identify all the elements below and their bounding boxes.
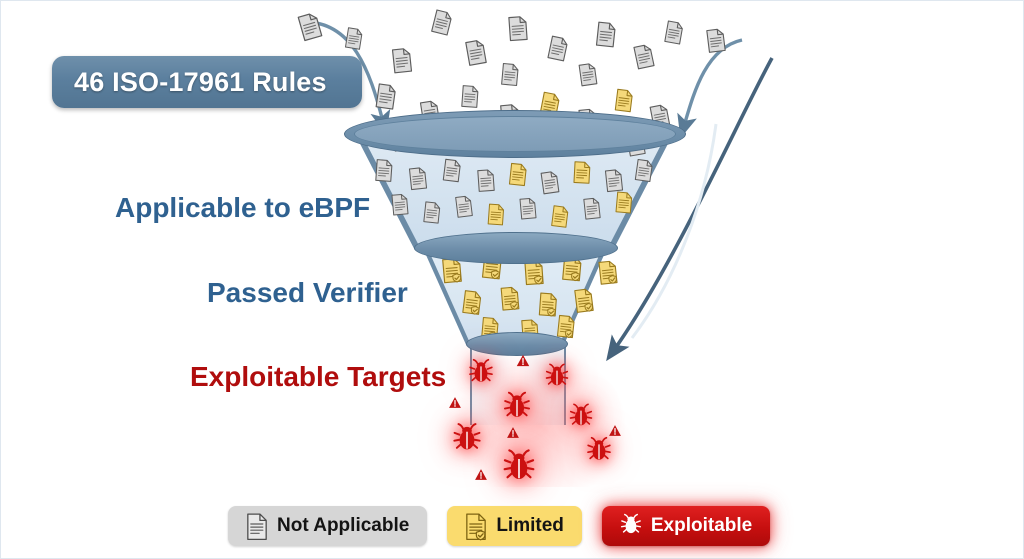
document-shield-icon xyxy=(465,513,487,539)
document-icon xyxy=(500,63,520,87)
document-icon xyxy=(550,205,570,228)
document-icon xyxy=(578,62,599,87)
legend-item-label: Limited xyxy=(496,515,564,537)
document-icon xyxy=(460,85,480,109)
legend-item-label: Exploitable xyxy=(651,515,752,537)
bug-icon xyxy=(545,363,570,388)
document-icon xyxy=(546,35,570,62)
warning-triangle-icon xyxy=(474,468,487,480)
document-icon xyxy=(422,201,441,224)
document-icon xyxy=(374,159,394,183)
legend-item-label: Not Applicable xyxy=(277,515,409,537)
warning-triangle-icon xyxy=(506,426,519,438)
funnel-mid-rim xyxy=(414,232,618,264)
bug-icon xyxy=(586,436,612,462)
document-icon xyxy=(390,193,409,216)
document-shield-icon xyxy=(538,292,559,317)
warning-triangle-icon xyxy=(608,424,621,436)
bug-icon xyxy=(452,422,482,452)
document-icon xyxy=(507,15,529,41)
rules-banner-label: 46 ISO-17961 Rules xyxy=(52,67,327,98)
warning-triangle-icon xyxy=(516,354,530,367)
document-shield-icon xyxy=(500,286,521,311)
legend-item-limited[interactable]: Limited xyxy=(447,506,582,546)
legend-item-exploitable[interactable]: Exploitable xyxy=(602,506,770,546)
document-icon xyxy=(476,169,496,193)
document-shield-icon xyxy=(573,288,595,314)
legend: Not Applicable Limited Exploitable xyxy=(228,506,770,546)
bug-icon xyxy=(569,403,594,428)
diagram-canvas: 46 ISO-17961 Rules Applicable to eBPF Pa… xyxy=(0,0,1024,559)
bug-icon xyxy=(502,448,536,482)
rules-banner: 46 ISO-17961 Rules xyxy=(52,56,362,108)
document-icon xyxy=(634,158,654,182)
document-icon xyxy=(464,38,488,66)
document-icon xyxy=(374,83,397,111)
bug-icon xyxy=(468,358,494,384)
document-icon xyxy=(540,170,561,195)
document-icon xyxy=(454,195,474,218)
document-icon xyxy=(595,21,618,48)
document-icon xyxy=(582,197,601,220)
exploitable-bugs xyxy=(440,348,640,493)
document-icon xyxy=(430,9,454,37)
bug-icon xyxy=(503,391,532,420)
document-icon xyxy=(408,166,428,190)
document-icon xyxy=(705,28,727,54)
document-icon xyxy=(614,191,633,214)
document-icon xyxy=(663,20,685,45)
warning-triangle-icon xyxy=(448,396,461,408)
filtering-funnel xyxy=(330,110,700,385)
document-icon xyxy=(442,158,463,183)
bug-icon xyxy=(620,513,642,539)
document-shield-icon xyxy=(556,314,576,338)
document-icon xyxy=(391,47,414,74)
document-icon xyxy=(296,11,323,42)
document-icon xyxy=(572,161,591,184)
legend-item-not-applicable[interactable]: Not Applicable xyxy=(228,506,427,546)
document-icon xyxy=(518,197,537,220)
document-icon xyxy=(344,27,364,51)
document-icon xyxy=(508,162,528,186)
funnel-top-rim-inner xyxy=(354,116,676,152)
document-icon xyxy=(246,513,268,539)
document-icon xyxy=(632,43,656,70)
document-shield-icon xyxy=(461,290,483,316)
document-icon xyxy=(604,168,624,192)
document-icon xyxy=(487,203,506,226)
document-shield-icon xyxy=(597,260,618,286)
